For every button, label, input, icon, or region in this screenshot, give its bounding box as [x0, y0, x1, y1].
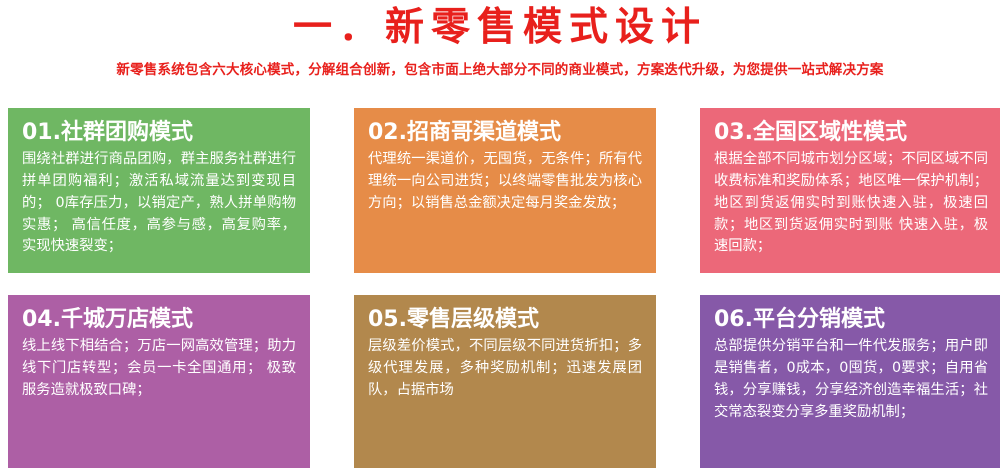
- mode-card-grid: 01.社群团购模式 围绕社群进行商品团购，群主服务社群进行拼单团购福利；激活私域…: [8, 108, 992, 468]
- mode-card-05: 05.零售层级模式 层级差价模式，不同层级不同进货折扣；多级代理发展，多种奖励机…: [354, 295, 656, 468]
- mode-card-06: 06.平台分销模式 总部提供分销平台和一件代发服务；用户即是销售者，0成本，0囤…: [700, 295, 1000, 468]
- mode-card-title: 02.招商哥渠道模式: [368, 120, 642, 146]
- mode-card-body: 总部提供分销平台和一件代发服务；用户即是销售者，0成本，0囤货，0要求；自用省钱…: [714, 336, 988, 423]
- mode-card-title: 04.千城万店模式: [22, 307, 296, 333]
- page-subtitle: 新零售系统包含六大核心模式，分解组合创新，包含市面上绝大部分不同的商业模式，方案…: [0, 62, 1000, 78]
- mode-card-body: 层级差价模式，不同层级不同进货折扣；多级代理发展，多种奖励机制；迅速发展团队，占…: [368, 336, 642, 402]
- mode-card-body: 根据全部不同城市划分区域；不同区域不同收费标准和奖励体系；地区唯一保护机制；地区…: [714, 149, 988, 258]
- mode-card-title: 06.平台分销模式: [714, 307, 988, 333]
- mode-card-02: 02.招商哥渠道模式 代理统一渠道价，无囤货，无条件；所有代理统一向公司进货；以…: [354, 108, 656, 273]
- mode-card-04: 04.千城万店模式 线上线下相结合；万店一网高效管理；助力线下门店转型；会员一卡…: [8, 295, 310, 468]
- poster-root: 一．新零售模式设计 新零售系统包含六大核心模式，分解组合创新，包含市面上绝大部分…: [0, 0, 1000, 468]
- poster-header: 一．新零售模式设计 新零售系统包含六大核心模式，分解组合创新，包含市面上绝大部分…: [0, 0, 1000, 78]
- mode-card-01: 01.社群团购模式 围绕社群进行商品团购，群主服务社群进行拼单团购福利；激活私域…: [8, 108, 310, 273]
- mode-card-body: 围绕社群进行商品团购，群主服务社群进行拼单团购福利；激活私域流量达到变现目的； …: [22, 149, 296, 258]
- mode-card-body: 线上线下相结合；万店一网高效管理；助力线下门店转型；会员一卡全国通用； 极致服务…: [22, 336, 296, 402]
- page-title: 一．新零售模式设计: [0, 4, 1000, 53]
- mode-card-title: 03.全国区域性模式: [714, 120, 988, 146]
- mode-card-body: 代理统一渠道价，无囤货，无条件；所有代理统一向公司进货；以终端零售批发为核心方向…: [368, 149, 642, 215]
- mode-card-title: 01.社群团购模式: [22, 120, 296, 146]
- mode-card-title: 05.零售层级模式: [368, 307, 642, 333]
- mode-card-03: 03.全国区域性模式 根据全部不同城市划分区域；不同区域不同收费标准和奖励体系；…: [700, 108, 1000, 273]
